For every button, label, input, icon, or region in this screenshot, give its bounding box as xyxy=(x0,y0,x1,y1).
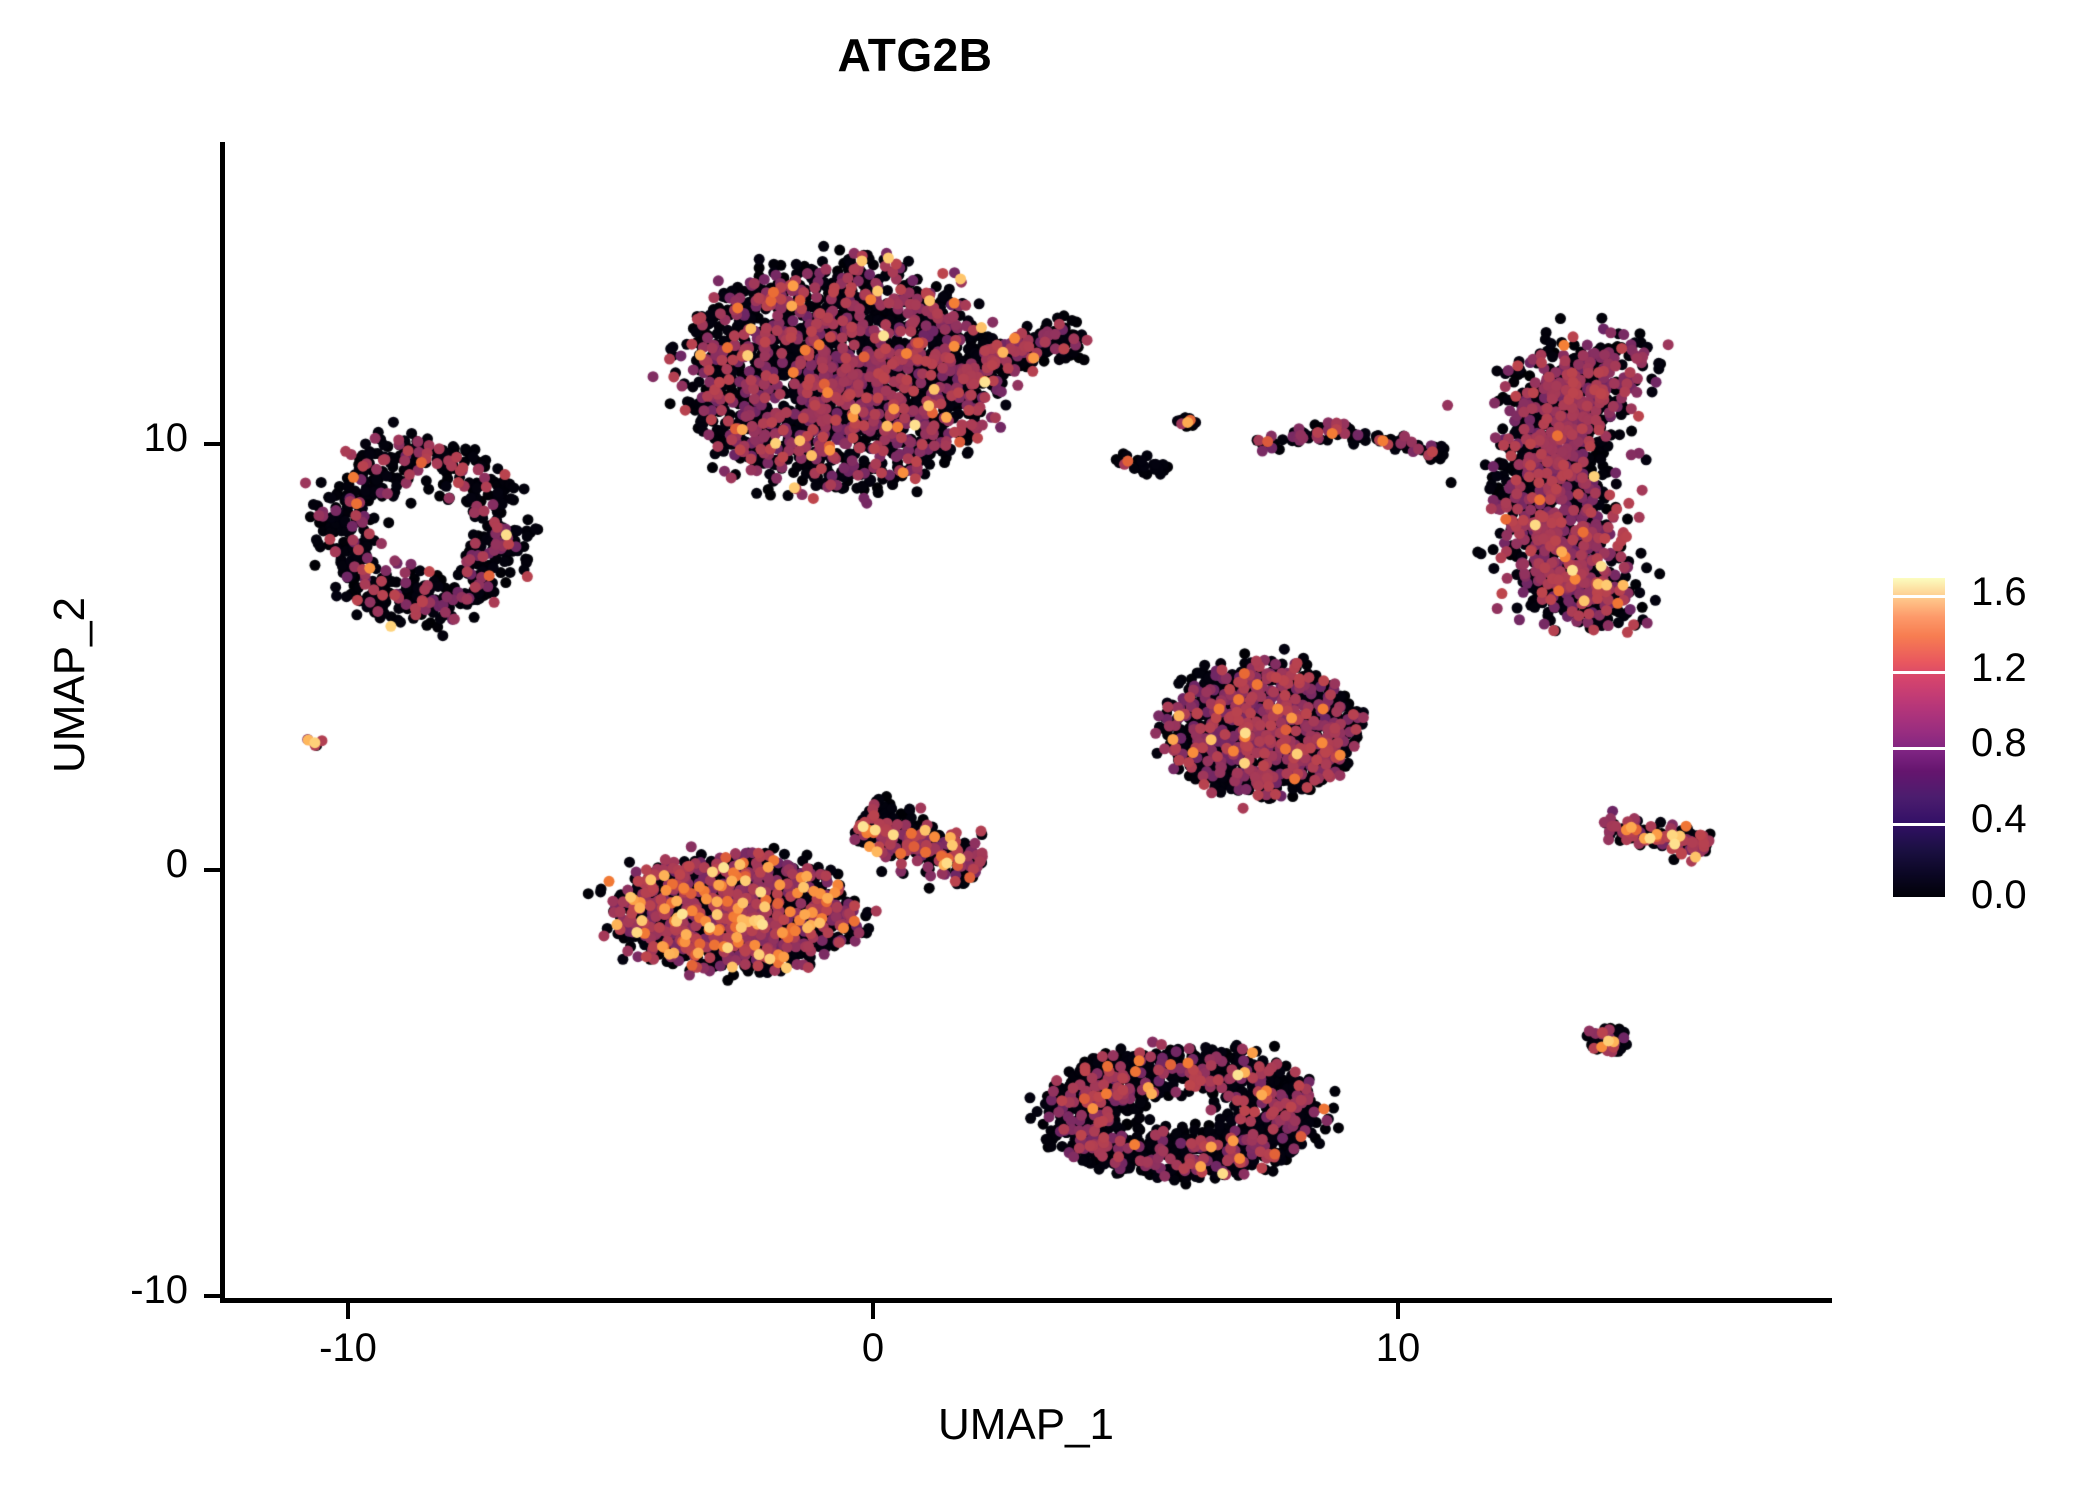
y-tick-mark-0 xyxy=(204,868,220,872)
umap-feature-plot: ATG2B 10 0 -10 -10 0 10 UMAP_1 UMAP_2 1.… xyxy=(0,0,2100,1500)
x-axis-spine xyxy=(220,1298,1832,1303)
y-tick-label-minus10: -10 xyxy=(78,1268,188,1313)
x-tick-mark-10 xyxy=(1396,1303,1400,1319)
page-title: ATG2B xyxy=(0,28,1830,82)
colorbar-tick-0-0 xyxy=(1893,897,1945,900)
y-tick-mark-10 xyxy=(204,442,220,446)
x-tick-label-minus10: -10 xyxy=(268,1326,428,1371)
x-tick-label-10: 10 xyxy=(1318,1326,1478,1371)
y-tick-mark-minus10 xyxy=(204,1294,220,1298)
colorbar-label-0-8: 0.8 xyxy=(1971,721,2091,766)
colorbar-legend: 1.6 1.2 0.8 0.4 0.0 xyxy=(1893,578,2093,908)
x-axis-title: UMAP_1 xyxy=(220,1400,1832,1450)
colorbar-tick-0-8 xyxy=(1893,747,1945,750)
y-axis-title: UMAP_2 xyxy=(45,335,95,1035)
y-axis-spine xyxy=(220,142,225,1302)
colorbar-label-0-0: 0.0 xyxy=(1971,873,2091,918)
colorbar-tick-0-4 xyxy=(1893,823,1945,826)
colorbar-label-0-4: 0.4 xyxy=(1971,797,2091,842)
x-tick-mark-0 xyxy=(871,1303,875,1319)
colorbar-tick-1-2 xyxy=(1893,671,1945,674)
scatter-plot-canvas xyxy=(0,0,2100,1500)
colorbar-gradient xyxy=(1893,578,1945,900)
colorbar-label-1-2: 1.2 xyxy=(1971,646,2091,691)
colorbar-tick-1-6 xyxy=(1893,595,1945,598)
colorbar-label-1-6: 1.6 xyxy=(1971,570,2091,615)
x-tick-mark-minus10 xyxy=(346,1303,350,1319)
x-tick-label-0: 0 xyxy=(793,1326,953,1371)
